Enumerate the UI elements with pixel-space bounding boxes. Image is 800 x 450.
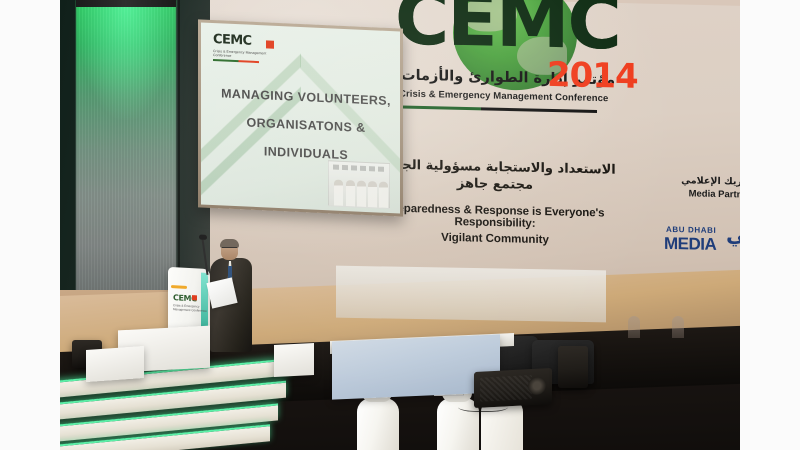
backdrop-pillar-2 [672, 316, 684, 338]
floor-monitor-speaker-2 [558, 346, 588, 388]
curtain-green-glow [76, 0, 176, 120]
adm-logo-arabic-text: أبوظبي [726, 222, 740, 248]
slide-group-photo [328, 160, 390, 209]
stage-cable [458, 400, 508, 412]
media-partner-english-label: Media Partner [660, 188, 740, 202]
conference-photograph: CEMC CEMC مؤتمر إدارة الطوارئ والأزمات 2… [60, 0, 740, 450]
media-partner-arabic-label: الشريك الإعلامي [660, 175, 740, 189]
curtain-rail [76, 0, 176, 7]
glasses-icon [222, 247, 237, 251]
backdrop-year: 2014 [547, 55, 638, 97]
cemc-branding-block: CEMC CEMC مؤتمر إدارة الطوارئ والأزمات 2… [395, 0, 625, 142]
slide-logo-word: CEMC [213, 32, 273, 50]
backdrop-divider-rule [397, 105, 597, 113]
cemc-wordmark-overlay: CEMC [395, 0, 620, 60]
panel-back-wall [336, 266, 606, 323]
photo-frame: CEMC CEMC مؤتمر إدارة الطوارئ والأزمات 2… [0, 0, 800, 450]
speaker-grille [480, 375, 532, 402]
panelist-1-kandura [357, 398, 399, 450]
abu-dhabi-media-logo: ABU DHABI MEDIA أبوظبي [660, 223, 740, 262]
stage-riser-box-3 [274, 343, 314, 377]
slide-photo-caption-bar [333, 164, 385, 171]
media-partner-block: الشريك الإعلامي Media Partner ABU DHABI … [660, 175, 740, 262]
speaker-at-podium [208, 240, 254, 350]
stage-riser-box-2 [86, 346, 144, 382]
projection-screen: CEMC Crisis & Emergency Management Confe… [198, 19, 403, 216]
slide-title: MANAGING VOLUNTEERS, ORGANISATONS & INDI… [217, 79, 395, 171]
podium-logo-dot-icon [192, 295, 197, 300]
adm-logo-big-text: MEDIA [664, 234, 716, 255]
slide-cemc-logo: CEMC Crisis & Emergency Management Confe… [213, 32, 273, 63]
projection-screen-surface: CEMC Crisis & Emergency Management Confe… [201, 22, 400, 213]
speaker-driver-icon [528, 376, 546, 395]
backdrop-pillar-1 [628, 316, 640, 338]
podium-microphone-icon [199, 235, 207, 240]
slide-logo-dot-icon [266, 40, 274, 48]
slide-logo-subtitle: Crisis & Emergency Management Conference [213, 49, 273, 60]
